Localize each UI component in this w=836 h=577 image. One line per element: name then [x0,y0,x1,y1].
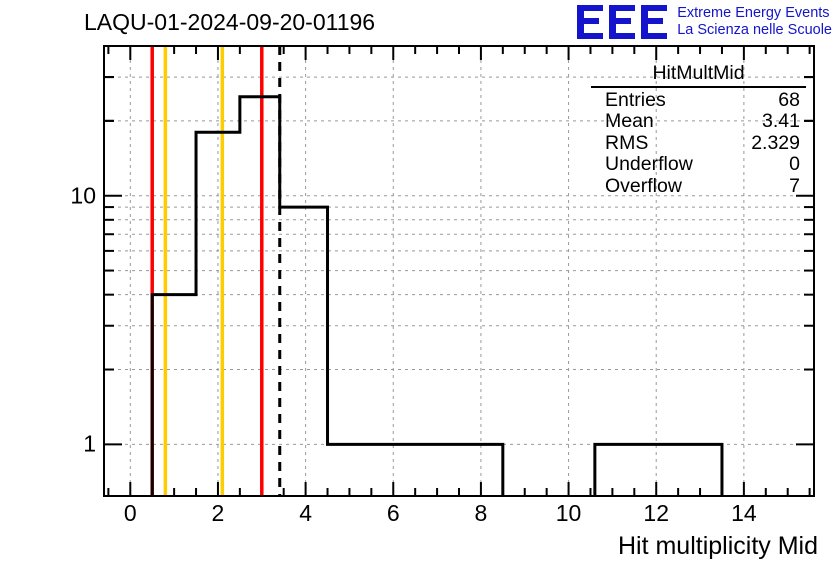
stats-row-key: Overflow [605,176,682,198]
stats-box-rows: Entries68Mean3.41RMS2.329Underflow0Overf… [591,90,806,198]
x-tick-label: 0 [124,500,137,526]
stats-row: Overflow7 [591,176,806,198]
stats-row-key: Entries [605,90,666,112]
stats-row-key: Underflow [605,154,693,176]
stats-row-value: 2.329 [751,133,800,155]
stats-row: Mean3.41 [591,111,806,133]
y-tick-label: 10 [70,184,96,207]
y-axis-tick-labels: 110 [40,0,96,572]
stats-row: Entries68 [591,90,806,112]
stats-row-value: 7 [789,176,800,198]
x-tick-label: 2 [212,500,225,526]
stats-row-value: 68 [778,90,800,112]
x-tick-label: 14 [731,500,757,526]
stats-row-value: 3.41 [762,111,800,133]
x-axis-title: Hit multiplicity Mid [618,531,818,561]
x-tick-label: 6 [387,500,400,526]
stats-row: Underflow0 [591,154,806,176]
x-tick-label: 4 [299,500,312,526]
stats-row-key: Mean [605,111,654,133]
x-tick-label: 12 [643,500,669,526]
stats-box: HitMultMid Entries68Mean3.41RMS2.329Unde… [591,63,806,197]
x-tick-label: 10 [556,500,582,526]
x-tick-label: 8 [475,500,488,526]
plot-canvas: 110 02468101214 Hit multiplicity Mid Hit… [0,0,836,572]
stats-row: RMS2.329 [591,133,806,155]
y-tick-label: 1 [83,433,96,456]
stats-row-value: 0 [789,154,800,176]
stats-box-title: HitMultMid [591,63,806,88]
stats-row-key: RMS [605,133,648,155]
